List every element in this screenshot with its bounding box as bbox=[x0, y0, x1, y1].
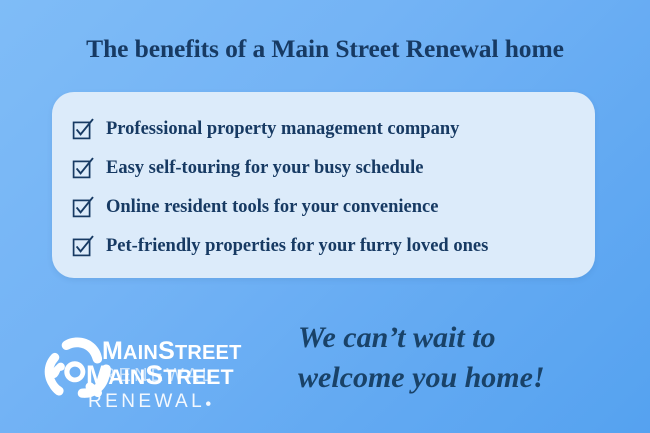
checkbox-checked-icon bbox=[72, 236, 93, 257]
list-item: Easy self-touring for your busy schedule bbox=[72, 149, 488, 188]
promo-poster: The benefits of a Main Street Renewal ho… bbox=[0, 0, 650, 433]
checkbox-checked-icon bbox=[72, 158, 93, 179]
tagline: We can’t wait to welcome you home! bbox=[298, 318, 545, 397]
logo-renewal-lower: RENEWAL● bbox=[88, 392, 211, 411]
list-item-label: Professional property management company bbox=[106, 120, 459, 139]
brand-logo: MAINSTREET RENEWAL MAINSTREET RENEWAL● bbox=[36, 326, 286, 422]
page-title: The benefits of a Main Street Renewal ho… bbox=[0, 34, 650, 64]
list-item: Online resident tools for your convenien… bbox=[72, 188, 488, 227]
logo-wordmark-lower: MAINSTREET bbox=[86, 362, 234, 389]
list-item: Pet-friendly properties for your furry l… bbox=[72, 227, 488, 266]
benefits-card: Professional property management company… bbox=[52, 92, 595, 278]
tagline-line-1: We can’t wait to bbox=[298, 318, 545, 358]
checkbox-checked-icon bbox=[72, 119, 93, 140]
benefits-list: Professional property management company… bbox=[72, 110, 488, 266]
list-item-label: Easy self-touring for your busy schedule bbox=[106, 159, 423, 178]
list-item-label: Pet-friendly properties for your furry l… bbox=[106, 237, 488, 256]
checkbox-checked-icon bbox=[72, 197, 93, 218]
tagline-line-2: welcome you home! bbox=[298, 358, 545, 398]
list-item-label: Online resident tools for your convenien… bbox=[106, 198, 438, 217]
list-item: Professional property management company bbox=[72, 110, 488, 149]
logo-wordmark-upper: MAINSTREET bbox=[102, 339, 242, 364]
